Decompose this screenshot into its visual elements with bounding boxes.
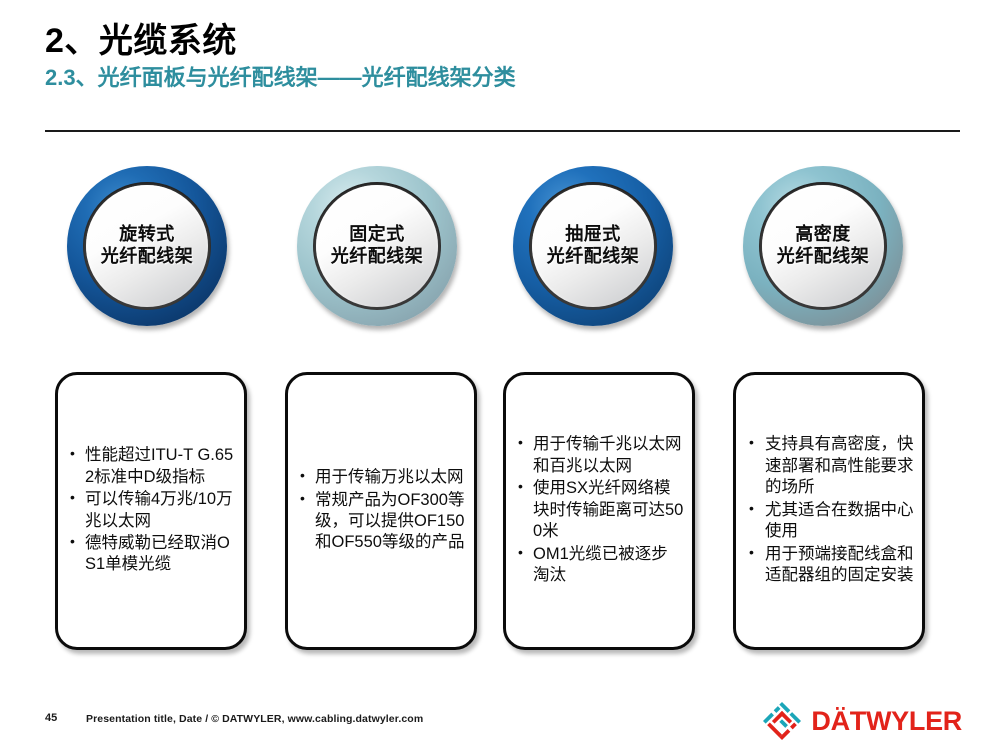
page-title: 2、光缆系统 [45, 22, 955, 61]
category-circles-row: 旋转式 光纤配线架 固定式 光纤配线架 [45, 166, 960, 336]
list-item: 用于传输千兆以太网和百兆以太网 [516, 434, 684, 477]
description-box: 性能超过ITU-T G.652标准中D级指标 可以传输4万兆/10万兆以太网 德… [55, 372, 247, 650]
bullet-list: 支持具有高密度，快速部署和高性能要求的场所 尤其适合在数据中心使用 用于预端接配… [746, 434, 914, 587]
page-subtitle: 2.3、光纤面板与光纤配线架——光纤配线架分类 [45, 65, 955, 91]
circle-label-line2: 光纤配线架 [101, 246, 194, 268]
circle-face: 高密度 光纤配线架 [762, 185, 884, 307]
circle-face: 固定式 光纤配线架 [316, 185, 438, 307]
description-box: 用于传输万兆以太网 常规产品为OF300等级，可以提供OF150和OF550等级… [285, 372, 477, 650]
circle-label-line2: 光纤配线架 [777, 246, 870, 268]
page-number: 45 [45, 712, 57, 724]
circle-label-line1: 抽屉式 [565, 224, 621, 244]
description-box: 支持具有高密度，快速部署和高性能要求的场所 尤其适合在数据中心使用 用于预端接配… [733, 372, 925, 650]
circle-label-line2: 光纤配线架 [547, 246, 640, 268]
slide-header: 2、光缆系统 2.3、光纤面板与光纤配线架——光纤配线架分类 [45, 22, 955, 91]
circle-ring: 高密度 光纤配线架 [743, 166, 903, 326]
list-item: 支持具有高密度，快速部署和高性能要求的场所 [746, 434, 914, 498]
circle-label: 旋转式 光纤配线架 [101, 224, 194, 268]
circle-ring: 旋转式 光纤配线架 [67, 166, 227, 326]
list-item: 使用SX光纤网络模块时传输距离可达500米 [516, 478, 684, 542]
bullet-list: 用于传输万兆以太网 常规产品为OF300等级，可以提供OF150和OF550等级… [298, 467, 466, 555]
list-item: 性能超过ITU-T G.652标准中D级指标 [68, 445, 236, 488]
list-item: 尤其适合在数据中心使用 [746, 500, 914, 543]
bullet-list: 性能超过ITU-T G.652标准中D级指标 可以传输4万兆/10万兆以太网 德… [68, 445, 236, 577]
description-boxes-row: 性能超过ITU-T G.652标准中D级指标 可以传输4万兆/10万兆以太网 德… [45, 372, 960, 652]
circle-ring: 固定式 光纤配线架 [297, 166, 457, 326]
category-circle-drawer[interactable]: 抽屉式 光纤配线架 [513, 166, 673, 326]
circle-label: 高密度 光纤配线架 [777, 224, 870, 268]
diamond-logo-icon [761, 700, 803, 742]
description-box: 用于传输千兆以太网和百兆以太网 使用SX光纤网络模块时传输距离可达500米 OM… [503, 372, 695, 650]
circle-label: 固定式 光纤配线架 [331, 224, 424, 268]
circle-ring: 抽屉式 光纤配线架 [513, 166, 673, 326]
circle-label-line1: 旋转式 [119, 224, 175, 244]
list-item: 用于预端接配线盒和适配器组的固定安装 [746, 544, 914, 587]
circle-face: 抽屉式 光纤配线架 [532, 185, 654, 307]
circle-label-line2: 光纤配线架 [331, 246, 424, 268]
bullet-list: 用于传输千兆以太网和百兆以太网 使用SX光纤网络模块时传输距离可达500米 OM… [516, 434, 684, 587]
list-item: 可以传输4万兆/10万兆以太网 [68, 489, 236, 532]
circle-face: 旋转式 光纤配线架 [86, 185, 208, 307]
logo-wordmark: DÄTWYLER [811, 708, 962, 735]
list-item: 用于传输万兆以太网 [298, 467, 466, 488]
category-circle-fixed[interactable]: 固定式 光纤配线架 [297, 166, 457, 326]
list-item: 德特威勒已经取消OS1单模光缆 [68, 533, 236, 576]
circle-label: 抽屉式 光纤配线架 [547, 224, 640, 268]
datwyler-logo: DÄTWYLER [761, 700, 962, 742]
list-item: 常规产品为OF300等级，可以提供OF150和OF550等级的产品 [298, 490, 466, 554]
circle-label-line1: 固定式 [349, 224, 405, 244]
circle-label-line1: 高密度 [795, 224, 851, 244]
slide-canvas: 2、光缆系统 2.3、光纤面板与光纤配线架——光纤配线架分类 旋转式 光纤配线架 [0, 0, 1000, 750]
category-circle-rotary[interactable]: 旋转式 光纤配线架 [67, 166, 227, 326]
category-circle-high-density[interactable]: 高密度 光纤配线架 [743, 166, 903, 326]
header-divider [45, 130, 960, 132]
list-item: OM1光缆已被逐步淘汰 [516, 544, 684, 587]
footer-text: Presentation title, Date / © DATWYLER, w… [86, 713, 423, 725]
